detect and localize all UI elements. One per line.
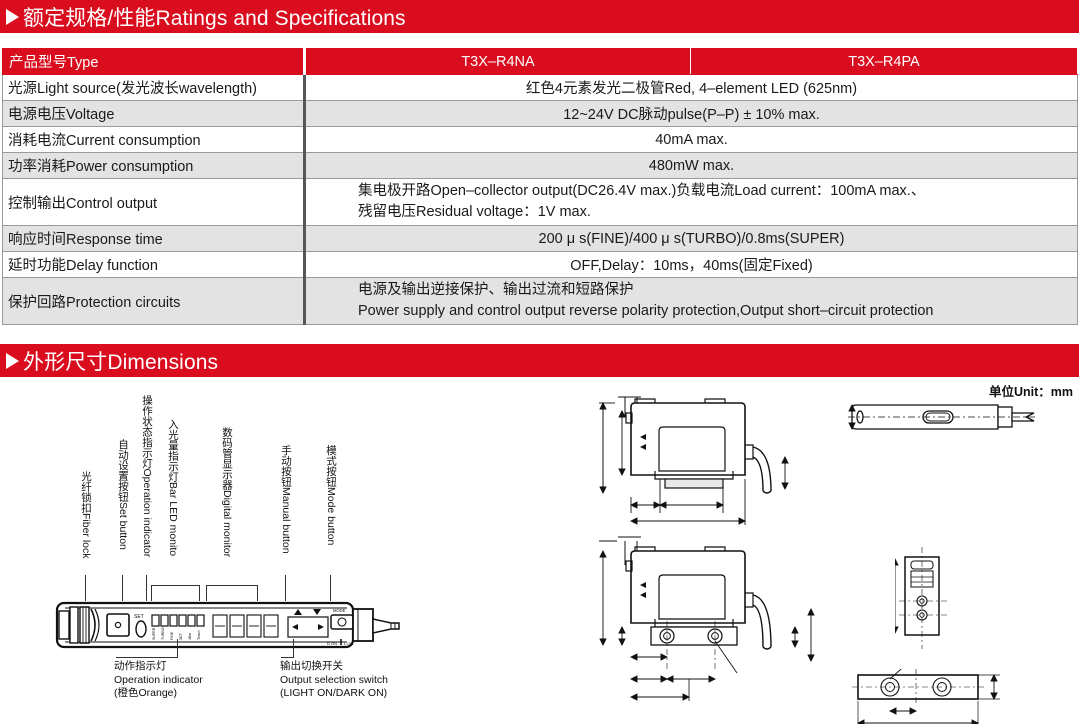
header-model-r4pa: T3X–R4PA [691, 49, 1078, 75]
specifications-table: 产品型号Type T3X–R4NA T3X–R4PA 光源Light sourc… [2, 48, 1078, 325]
callout-manual-button: 手动按钮Manual button [280, 445, 291, 554]
svg-text:FINE: FINE [170, 631, 174, 640]
row-label-protection-circuits: 保护回路Protection circuits [3, 278, 305, 325]
callout-operation-indicator: 操作状态指示灯Operation indicator [141, 395, 152, 557]
table-row: 电源电压Voltage 12~24V DC脉动pulse(P–P) ± 10% … [3, 101, 1078, 127]
leader-line [122, 575, 123, 601]
control-output-line-1: 集电极开路Open–collector output(DC26.4V max.)… [358, 181, 1071, 202]
drawing-side-view-mounted [585, 529, 815, 709]
callout-output-selection-switch: 输出切换开关 Output selection switch (LIGHT ON… [280, 660, 388, 701]
row-value-response-time: 200 μ s(FINE)/400 μ s(TURBO)/0.8ms(SUPER… [305, 226, 1078, 252]
svg-text:SET: SET [134, 614, 144, 620]
leader-line [146, 575, 147, 601]
row-label-light-source: 光源Light source(发光波长wavelength) [3, 75, 305, 101]
row-value-delay-function: OFF,Delay：10ms，40ms(固定Fixed) [305, 252, 1078, 278]
drawing-side-view-closed [585, 385, 815, 530]
protection-line-1: 电源及输出逆接保护、输出过流和短路保护 [358, 280, 1071, 301]
dimensions-section-banner: 外形尺寸Dimensions [0, 344, 1079, 377]
operation-indicator-line-2: Operation indicator [114, 674, 203, 688]
datasheet-page: 额定规格/性能Ratings and Specifications 产品型号Ty… [0, 0, 1079, 724]
row-label-power-consumption: 功率消耗Power consumption [3, 153, 305, 179]
svg-text:4Bar: 4Bar [188, 632, 192, 640]
svg-text:Teach: Teach [197, 630, 201, 640]
leader-line [177, 639, 178, 657]
table-row: 控制输出Control output 集电极开路Open–collector o… [3, 179, 1078, 226]
row-value-control-output: 集电极开路Open–collector output(DC26.4V max.)… [305, 179, 1078, 226]
callout-fiber-lock: 光纤锁扣Fiber lock [80, 471, 91, 559]
svg-text:D.ON: D.ON [327, 641, 337, 646]
table-row: 响应时间Response time 200 μ s(FINE)/400 μ s(… [3, 226, 1078, 252]
table-row: 保护回路Protection circuits 电源及输出逆接保护、输出过流和短… [3, 278, 1078, 325]
output-switch-line-1: 输出切换开关 [280, 660, 388, 674]
leader-line [293, 639, 294, 657]
triangle-marker-icon [6, 353, 19, 369]
leader-line [330, 575, 331, 601]
svg-text:TURBO: TURBO [161, 627, 165, 640]
row-label-control-output: 控制输出Control output [3, 179, 305, 226]
dimensions-section-title: 外形尺寸Dimensions [23, 346, 218, 376]
row-value-protection-circuits: 电源及输出逆接保护、输出过流和短路保护 Power supply and con… [305, 278, 1078, 325]
row-value-power-consumption: 480mW max. [305, 153, 1078, 179]
table-row: 光源Light source(发光波长wavelength) 红色4元素发光二极… [3, 75, 1078, 101]
drawing-bracket-detail [848, 669, 1028, 724]
row-label-delay-function: 延时功能Delay function [3, 252, 305, 278]
row-value-voltage: 12~24V DC脉动pulse(P–P) ± 10% max. [305, 101, 1078, 127]
dimensions-content: 单位Unit：mm 光纤锁扣Fiber lock 自动设置按钮Set butto… [0, 377, 1079, 724]
header-model-r4na: T3X–R4NA [305, 49, 691, 75]
header-type-label: 产品型号Type [3, 49, 305, 75]
row-label-voltage: 电源电压Voltage [3, 101, 305, 127]
svg-text:L.ON: L.ON [344, 641, 353, 646]
protection-line-2: Power supply and control output reverse … [358, 301, 1071, 322]
callout-operation-indicator-bottom: 动作指示灯 Operation indicator (橙色Orange) [114, 660, 203, 701]
table-row: 功率消耗Power consumption 480mW max. [3, 153, 1078, 179]
control-output-line-2: 残留电压Residual voltage：1V max. [358, 202, 1071, 223]
leader-line [116, 657, 178, 658]
callout-set-button: 自动设置按钮Set button [117, 439, 128, 550]
row-label-response-time: 响应时间Response time [3, 226, 305, 252]
operation-indicator-line-3: (橙色Orange) [114, 687, 203, 701]
svg-text:SET: SET [179, 632, 183, 640]
ratings-section-banner: 额定规格/性能Ratings and Specifications [0, 0, 1079, 33]
svg-text:SUPER: SUPER [152, 627, 156, 640]
output-switch-line-3: (LIGHT ON/DARK ON) [280, 687, 388, 701]
leader-line [85, 575, 86, 601]
triangle-marker-icon [6, 9, 19, 25]
output-switch-line-2: Output selection switch [280, 674, 388, 688]
ratings-section-title: 额定规格/性能Ratings and Specifications [23, 2, 406, 32]
row-value-light-source: 红色4元素发光二极管Red, 4–element LED (625nm) [305, 75, 1078, 101]
callout-bar-led-monitor: 入光量指示灯Bar LED monito [167, 419, 178, 556]
table-row: 延时功能Delay function OFF,Delay：10ms，40ms(固… [3, 252, 1078, 278]
callout-digital-monitor: 数码管显示器Digital monitor [221, 427, 232, 557]
drawing-front-view [895, 545, 965, 655]
table-header-row: 产品型号Type T3X–R4NA T3X–R4PA [3, 49, 1078, 75]
table-row: 消耗电流Current consumption 40mA max. [3, 127, 1078, 153]
leader-line [285, 575, 286, 601]
callout-mode-button: 模式按钮Mode button [325, 445, 336, 545]
product-illustration: SET SUPER TURBO FINE SET 4Bar [55, 599, 400, 651]
row-label-current-consumption: 消耗电流Current consumption [3, 127, 305, 153]
drawing-cover-profile [848, 395, 1038, 441]
svg-text:MODE: MODE [333, 608, 346, 613]
leader-line [281, 657, 294, 658]
row-value-current-consumption: 40mA max. [305, 127, 1078, 153]
operation-indicator-line-1: 动作指示灯 [114, 660, 203, 674]
